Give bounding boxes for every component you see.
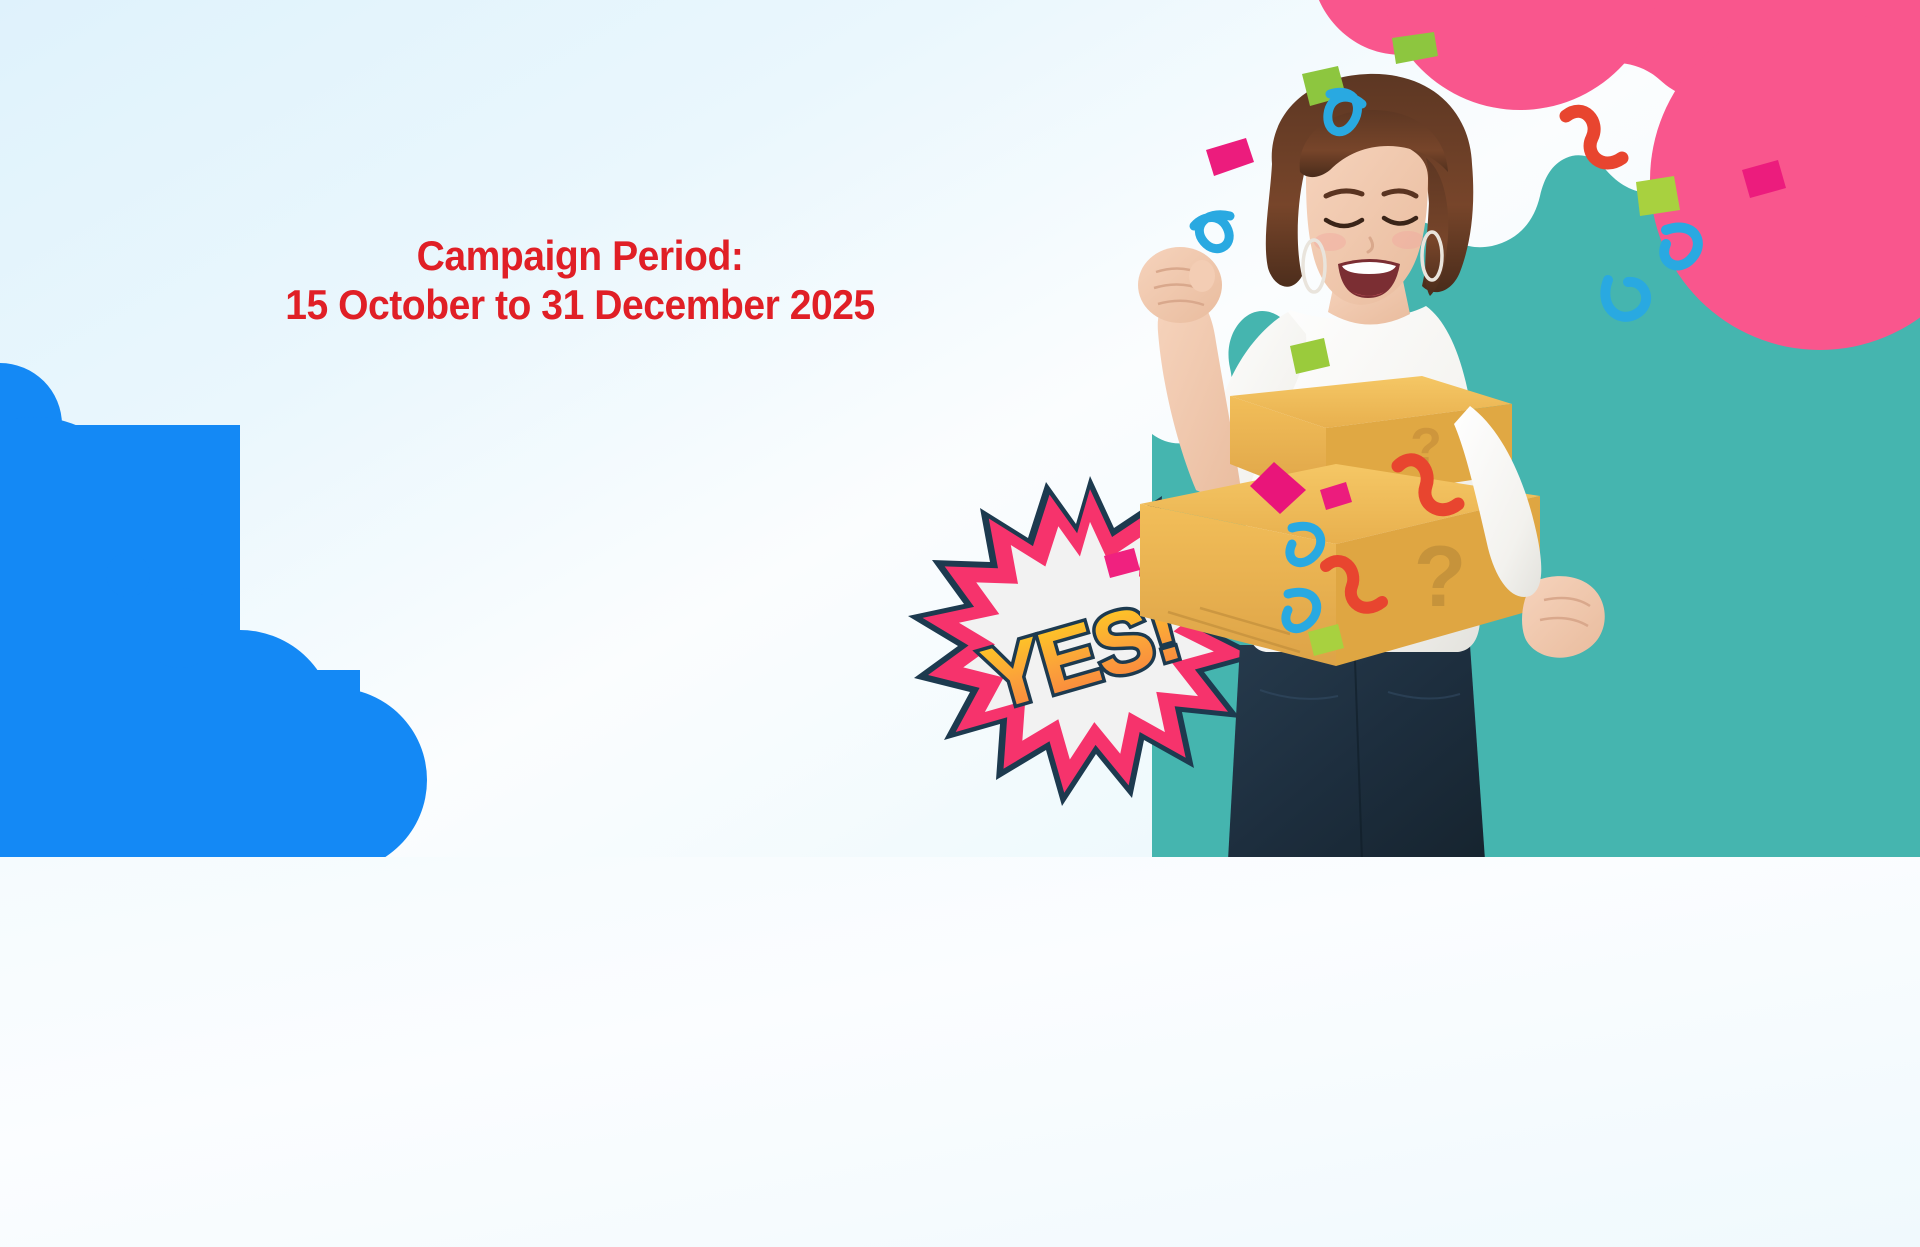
blue-cloud-shape [0,370,450,857]
box-question-mark-upper: ? [1410,418,1442,476]
lower-background-area [0,857,1920,1247]
raised-fist [1138,247,1222,323]
box-question-mark-lower: ? [1414,529,1467,625]
headline-line-1: Campaign Period: [189,232,970,281]
campaign-headline: Campaign Period: 15 October to 31 Decemb… [189,232,970,329]
head [1266,74,1473,305]
blue-bubble-medium [140,588,220,668]
celebrating-woman-illustration: ? ? [1140,60,1760,857]
banner-art-band: YES! [0,0,1920,857]
headline-line-2: 15 October to 31 December 2025 [189,281,970,330]
campaign-banner: YES! [0,0,1920,1247]
blue-bubble-small [106,553,150,597]
